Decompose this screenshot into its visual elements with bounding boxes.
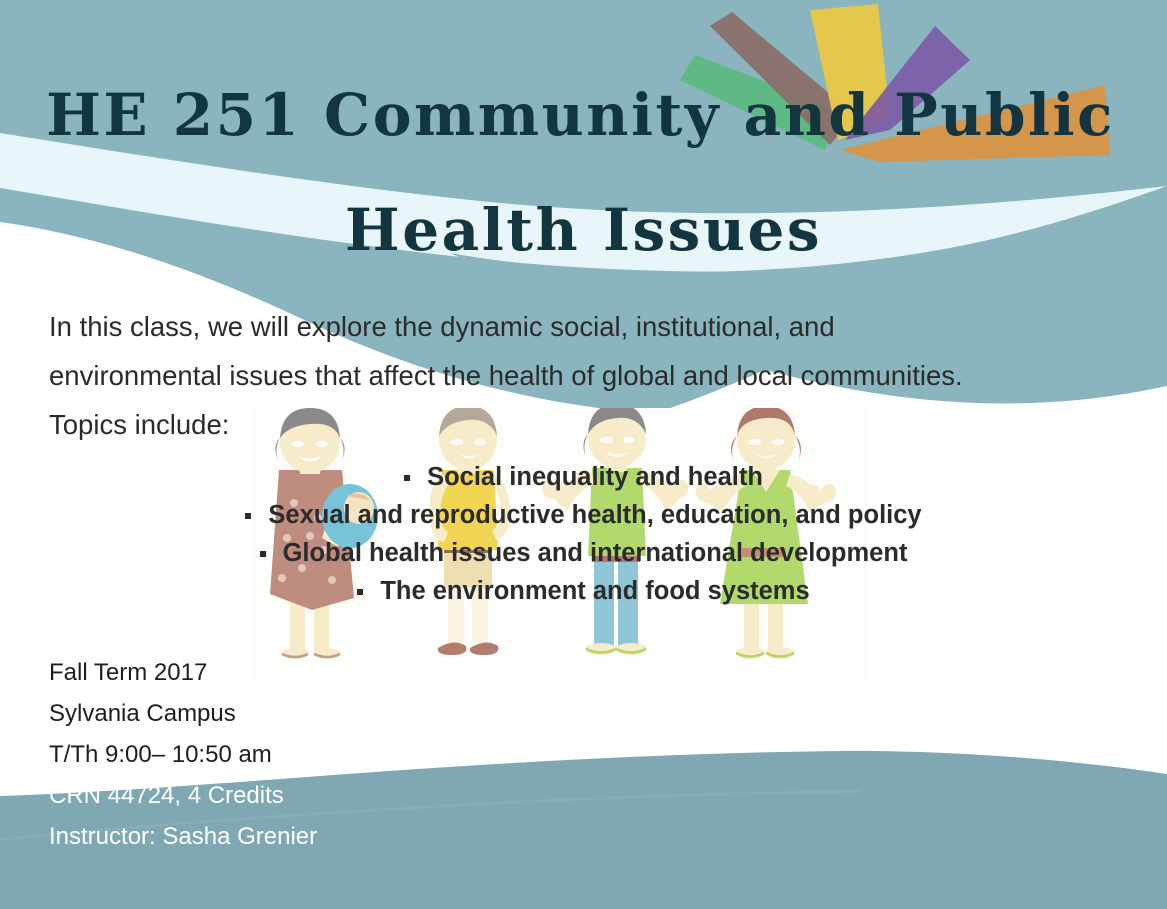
list-item-label: The environment and food systems [380, 577, 809, 605]
campus-line: Sylvania Campus [49, 693, 317, 734]
list-item: The environment and food systems [0, 572, 1167, 610]
bullet-square-icon [404, 475, 410, 481]
bullet-square-icon [260, 551, 266, 557]
title-line-2: Health Issues [0, 199, 1167, 261]
list-item-label: Sexual and reproductive health, educatio… [268, 501, 921, 529]
term-line: Fall Term 2017 [49, 652, 317, 693]
instructor-line: Instructor: Sasha Grenier [49, 816, 317, 857]
course-flyer: HE 251 Community and Public Health Issue… [0, 0, 1167, 909]
list-item-label: Social inequality and health [427, 463, 763, 491]
list-item: Sexual and reproductive health, educatio… [0, 496, 1167, 534]
intro-paragraph: In this class, we will explore the dynam… [49, 302, 1109, 449]
schedule-line: T/Th 9:00– 10:50 am [49, 734, 317, 775]
list-item: Social inequality and health [0, 458, 1167, 496]
bullet-square-icon [357, 589, 363, 595]
list-item-label: Global health issues and international d… [283, 539, 908, 567]
topics-list: Social inequality and health Sexual and … [0, 458, 1167, 610]
page-title: HE 251 Community and Public Health Issue… [0, 84, 1167, 261]
crn-credits-line: CRN 44724, 4 Credits [49, 775, 317, 816]
list-item: Global health issues and international d… [0, 534, 1167, 572]
intro-line-1: In this class, we will explore the dynam… [49, 302, 1109, 351]
title-line-1: HE 251 Community and Public [0, 84, 1167, 146]
intro-line-2: environmental issues that affect the hea… [49, 351, 1109, 400]
bullet-square-icon [245, 513, 251, 519]
intro-line-3: Topics include: [49, 400, 1109, 449]
course-details: Fall Term 2017 Sylvania Campus T/Th 9:00… [49, 652, 317, 857]
